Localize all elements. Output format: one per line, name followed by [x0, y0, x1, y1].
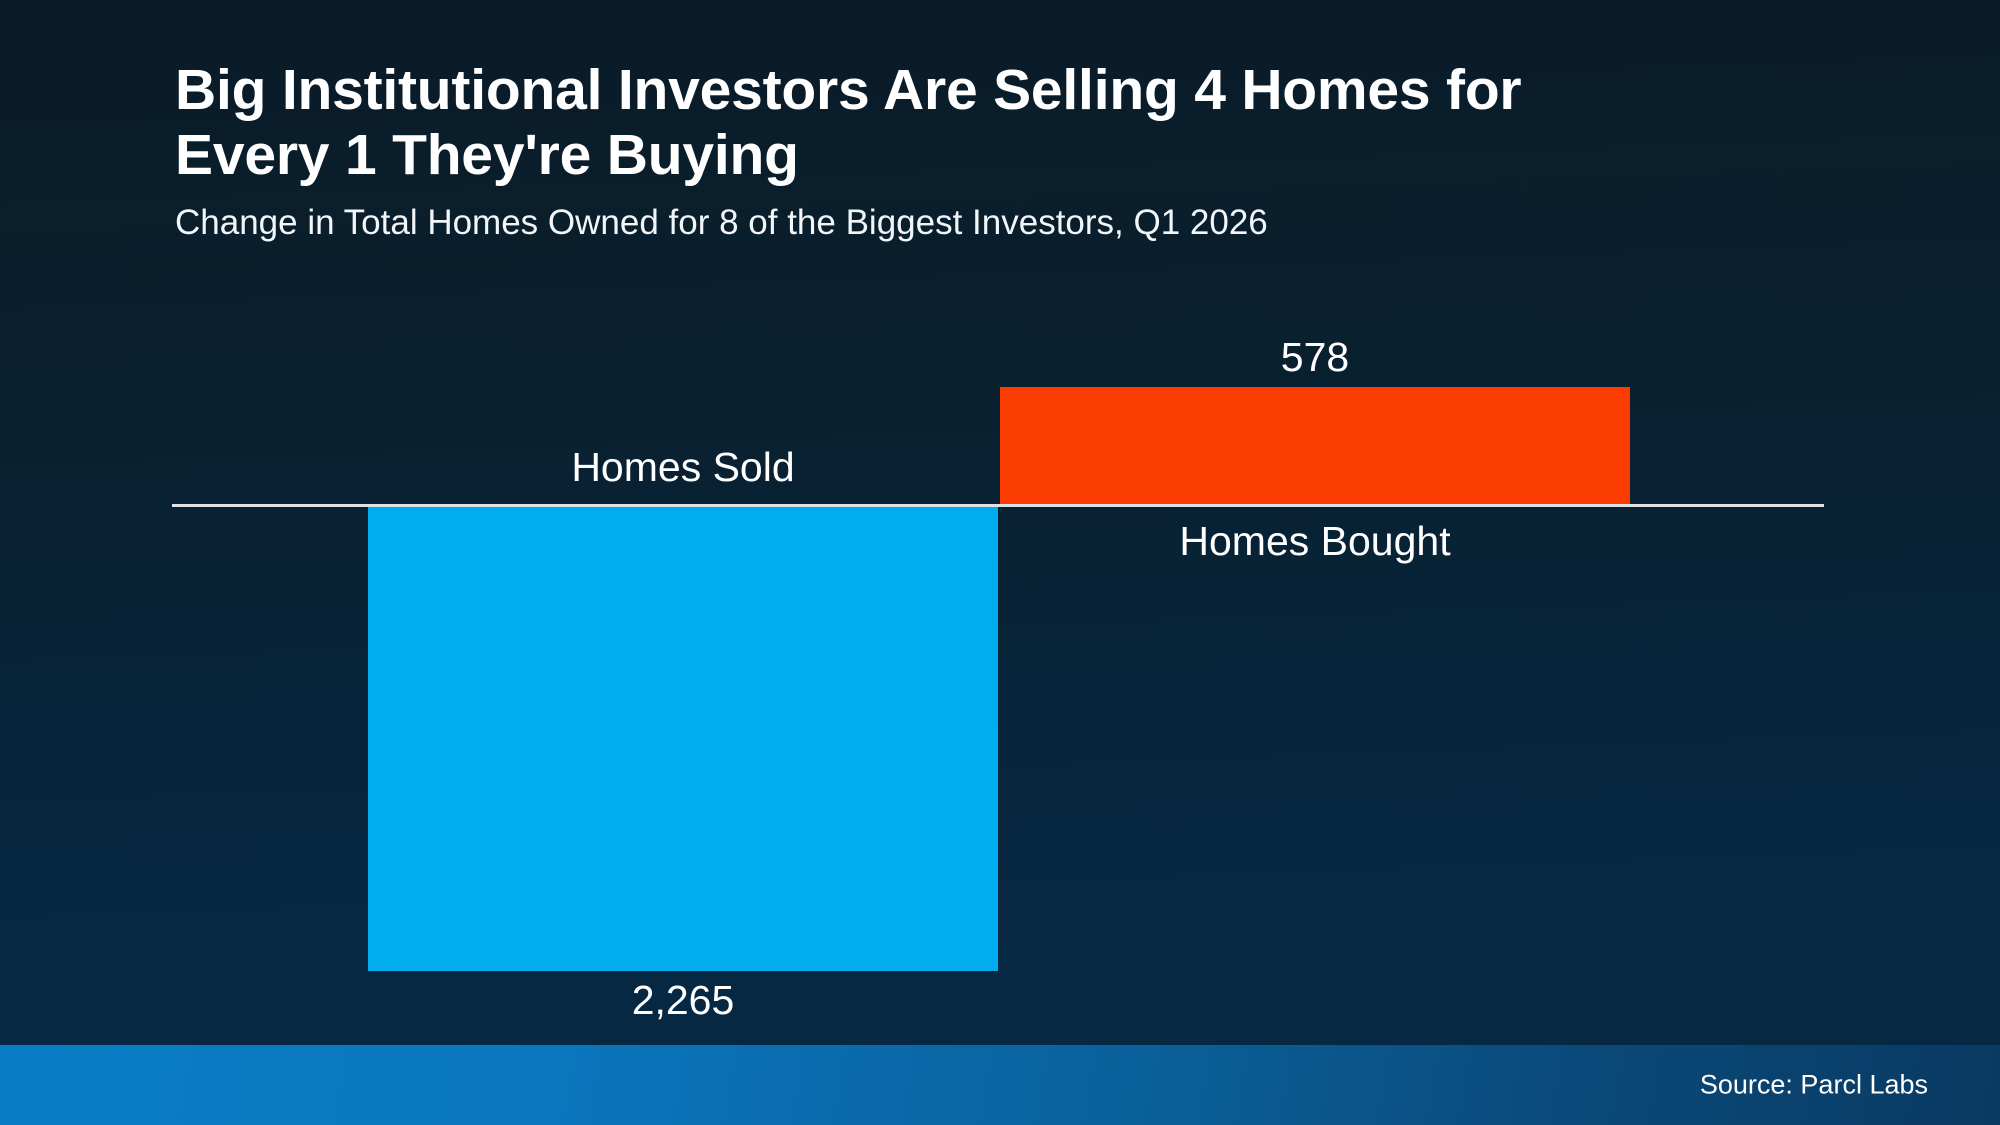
- bar-category-label-homes-sold: Homes Sold: [368, 447, 998, 488]
- bar-homes-bought[interactable]: [1000, 387, 1630, 504]
- bar-value-label-homes-bought: 578: [1000, 337, 1630, 378]
- bar-category-label-homes-bought: Homes Bought: [1000, 521, 1630, 562]
- bar-homes-sold[interactable]: [368, 507, 998, 971]
- chart-slide: Big Institutional Investors Are Selling …: [0, 0, 2000, 1125]
- chart-plot-area: 578 Homes Sold Homes Bought 2,265: [0, 0, 2000, 1040]
- source-attribution: Source: Parcl Labs: [1700, 1072, 1928, 1099]
- footer-bar: Source: Parcl Labs: [0, 1045, 2000, 1125]
- bar-value-label-homes-sold: 2,265: [368, 980, 998, 1021]
